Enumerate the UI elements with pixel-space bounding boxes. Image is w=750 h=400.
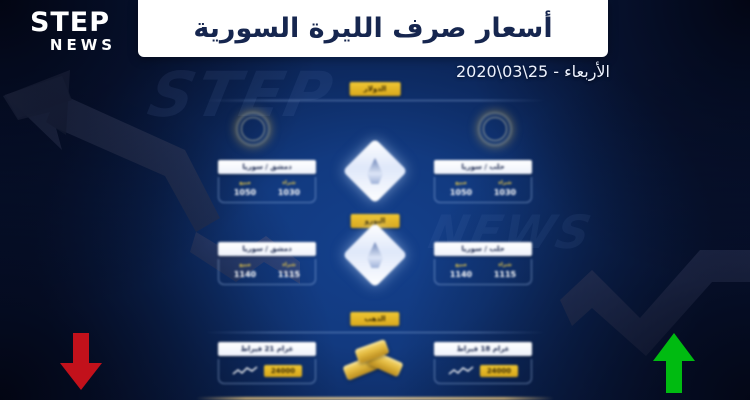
step-news-logo: STEP NEWS xyxy=(14,8,126,54)
gold-coin-icon xyxy=(478,112,512,146)
gold-price-badge: 24000 xyxy=(480,365,518,377)
metric-value: 1140 xyxy=(234,270,256,279)
rate-card: دمشق / سوريا مبيع 1050 شراء 1030 xyxy=(218,160,316,203)
metric-label: شراء xyxy=(494,180,516,186)
rate-metric: شراء 1115 xyxy=(494,262,516,279)
metric-value: 1140 xyxy=(450,270,472,279)
rate-card-city: غرام 18 قيراط xyxy=(434,342,532,356)
metric-value: 1050 xyxy=(234,188,256,197)
rate-card: غرام 18 قيراط 24000 xyxy=(434,342,532,384)
metric-label: مبيع xyxy=(450,180,472,186)
rate-card-city: حلب / سوريا xyxy=(434,242,532,256)
section-badge-gold: الذهب xyxy=(350,312,399,326)
rate-metric: مبيع 1140 xyxy=(234,262,256,279)
date-label: الأربعاء - 25\03\2020 xyxy=(456,62,610,81)
rate-card: حلب / سوريا مبيع 1140 شراء 1115 xyxy=(434,242,532,285)
infographic-canvas: STEP NEWS STEP NEWS أسعار صرف الليرة الس… xyxy=(0,0,750,400)
metric-value: 1115 xyxy=(494,270,516,279)
sparkline-icon xyxy=(448,366,474,376)
rate-metric: مبيع 1050 xyxy=(450,180,472,197)
metric-value: 1030 xyxy=(494,188,516,197)
gold-bars-icon xyxy=(342,338,406,384)
rate-metric: شراء 1030 xyxy=(494,180,516,197)
declining-trend-arrow-icon xyxy=(3,70,220,232)
logo-step-text: STEP xyxy=(30,9,110,36)
section-rule-1 xyxy=(204,100,546,101)
red-down-arrow-icon xyxy=(58,333,104,391)
currency-diamond-emblem-icon xyxy=(352,232,398,278)
metric-label: شراء xyxy=(494,262,516,268)
rate-metric: مبيع 1140 xyxy=(450,262,472,279)
rate-metric: شراء 1115 xyxy=(278,262,300,279)
rate-card: غرام 21 قيراط 24000 xyxy=(218,342,316,384)
page-title: أسعار صرف الليرة السورية xyxy=(193,13,552,44)
title-banner: أسعار صرف الليرة السورية xyxy=(138,0,608,57)
rate-card-city: دمشق / سوريا xyxy=(218,242,316,256)
metric-value: 1050 xyxy=(450,188,472,197)
rate-card: دمشق / سوريا مبيع 1140 شراء 1115 xyxy=(218,242,316,285)
metric-value: 1115 xyxy=(278,270,300,279)
metric-label: شراء xyxy=(278,262,300,268)
exchange-rate-panel: الدولار دمشق / سوريا مبيع 1050 شراء 1030… xyxy=(196,86,554,400)
sparkline-icon xyxy=(232,366,258,376)
metric-label: مبيع xyxy=(234,262,256,268)
metric-label: شراء xyxy=(278,180,300,186)
section-rule-2 xyxy=(204,332,546,333)
logo-news-text: NEWS xyxy=(50,38,116,53)
gold-price-badge: 24000 xyxy=(264,365,302,377)
metric-value: 1030 xyxy=(278,188,300,197)
section-badge-dollar: الدولار xyxy=(350,82,401,96)
rate-card: حلب / سوريا مبيع 1050 شراء 1030 xyxy=(434,160,532,203)
green-up-arrow-icon xyxy=(652,333,696,393)
metric-label: مبيع xyxy=(234,180,256,186)
rate-card-city: حلب / سوريا xyxy=(434,160,532,174)
rate-card-city: دمشق / سوريا xyxy=(218,160,316,174)
rate-card-city: غرام 21 قيراط xyxy=(218,342,316,356)
currency-diamond-emblem-icon xyxy=(352,148,398,194)
metric-label: مبيع xyxy=(450,262,472,268)
gold-coin-icon xyxy=(236,112,270,146)
rate-metric: مبيع 1050 xyxy=(234,180,256,197)
rate-metric: شراء 1030 xyxy=(278,180,300,197)
